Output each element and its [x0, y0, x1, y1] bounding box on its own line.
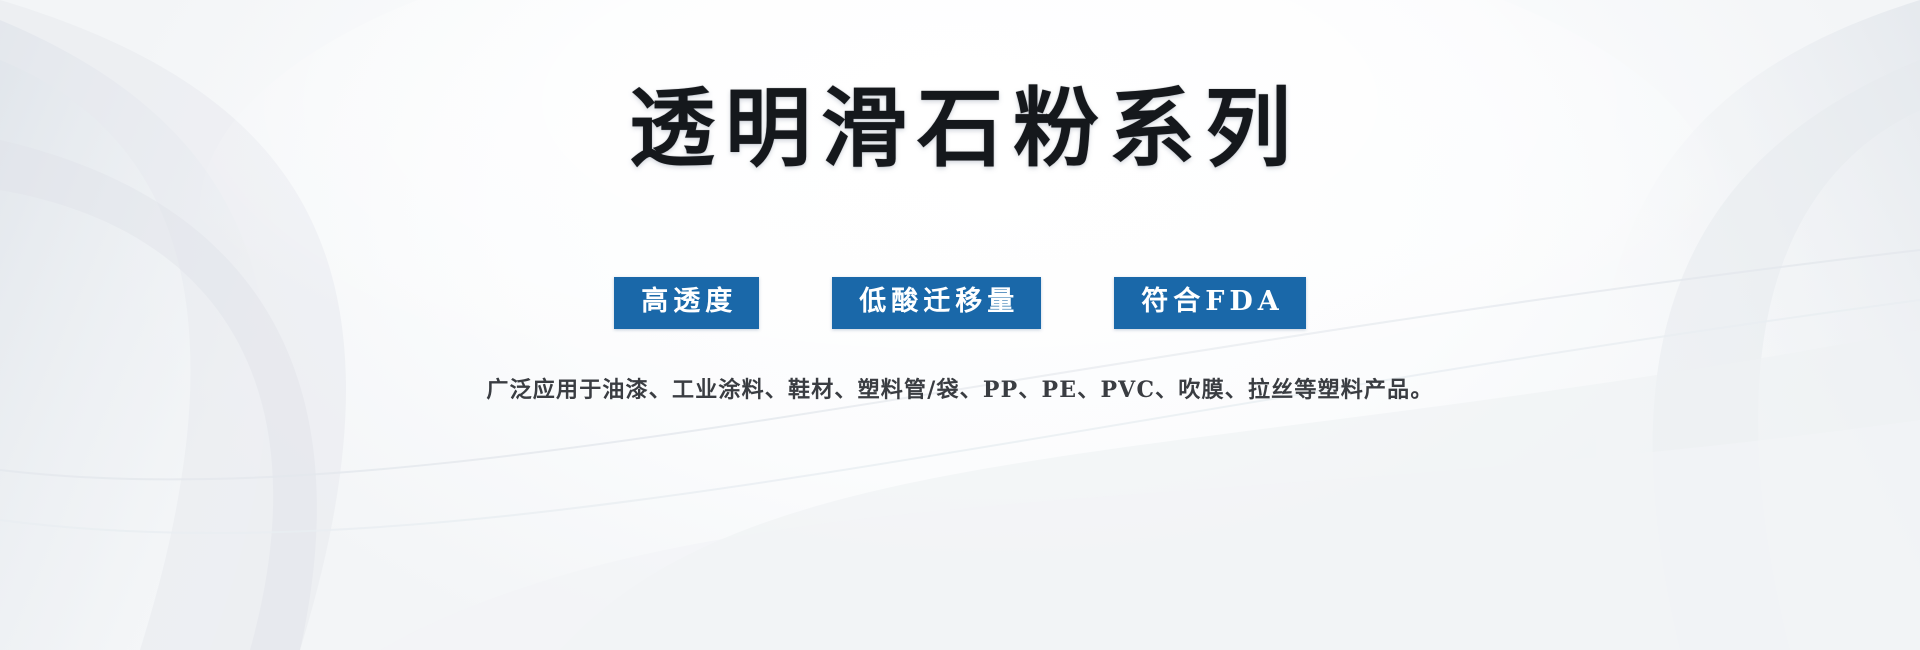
product-image-strip: [0, 440, 1920, 570]
feature-badge-fda-compliant: 符合FDA: [1114, 277, 1306, 329]
feature-badge-list: 高透度 低酸迁移量 符合FDA: [0, 277, 1920, 329]
feature-badge-high-transparency: 高透度: [614, 277, 759, 329]
application-subtitle: 广泛应用于油漆、工业涂料、鞋材、塑料管/袋、PP、PE、PVC、吹膜、拉丝等塑料…: [0, 372, 1920, 404]
feature-badge-low-acid-migration: 低酸迁移量: [832, 277, 1041, 329]
page-title: 透明滑石粉系列: [619, 84, 1301, 174]
banner-title-wrapper: 透明滑石粉系列: [0, 84, 1920, 174]
product-banner: 透明滑石粉系列 高透度 低酸迁移量 符合FDA 广泛应用于油漆、工业涂料、鞋材、…: [0, 0, 1920, 650]
